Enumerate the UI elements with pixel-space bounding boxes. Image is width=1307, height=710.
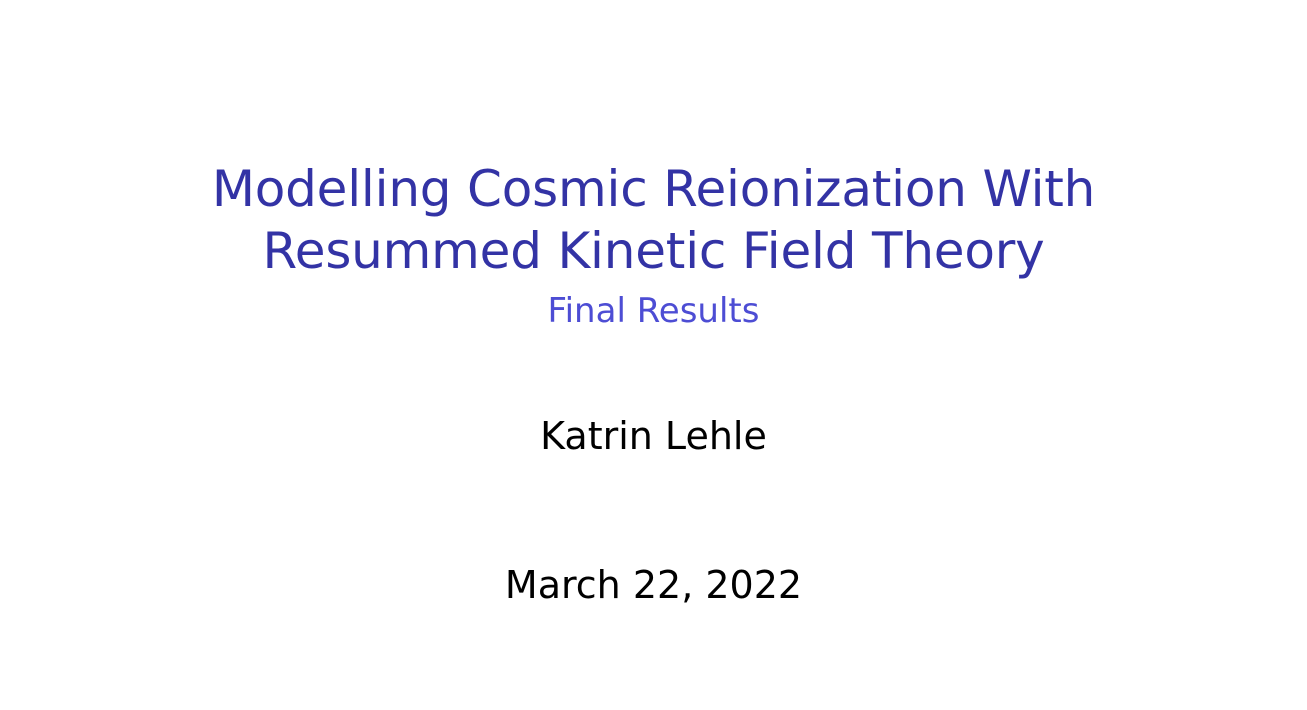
slide-title: Modelling Cosmic Reionization With Resum… (0, 158, 1307, 282)
presentation-date: March 22, 2022 (0, 562, 1307, 608)
title-block: Modelling Cosmic Reionization With Resum… (0, 158, 1307, 332)
author-name: Katrin Lehle (0, 413, 1307, 459)
slide-subtitle: Final Results (0, 290, 1307, 332)
title-slide: Modelling Cosmic Reionization With Resum… (0, 0, 1307, 710)
